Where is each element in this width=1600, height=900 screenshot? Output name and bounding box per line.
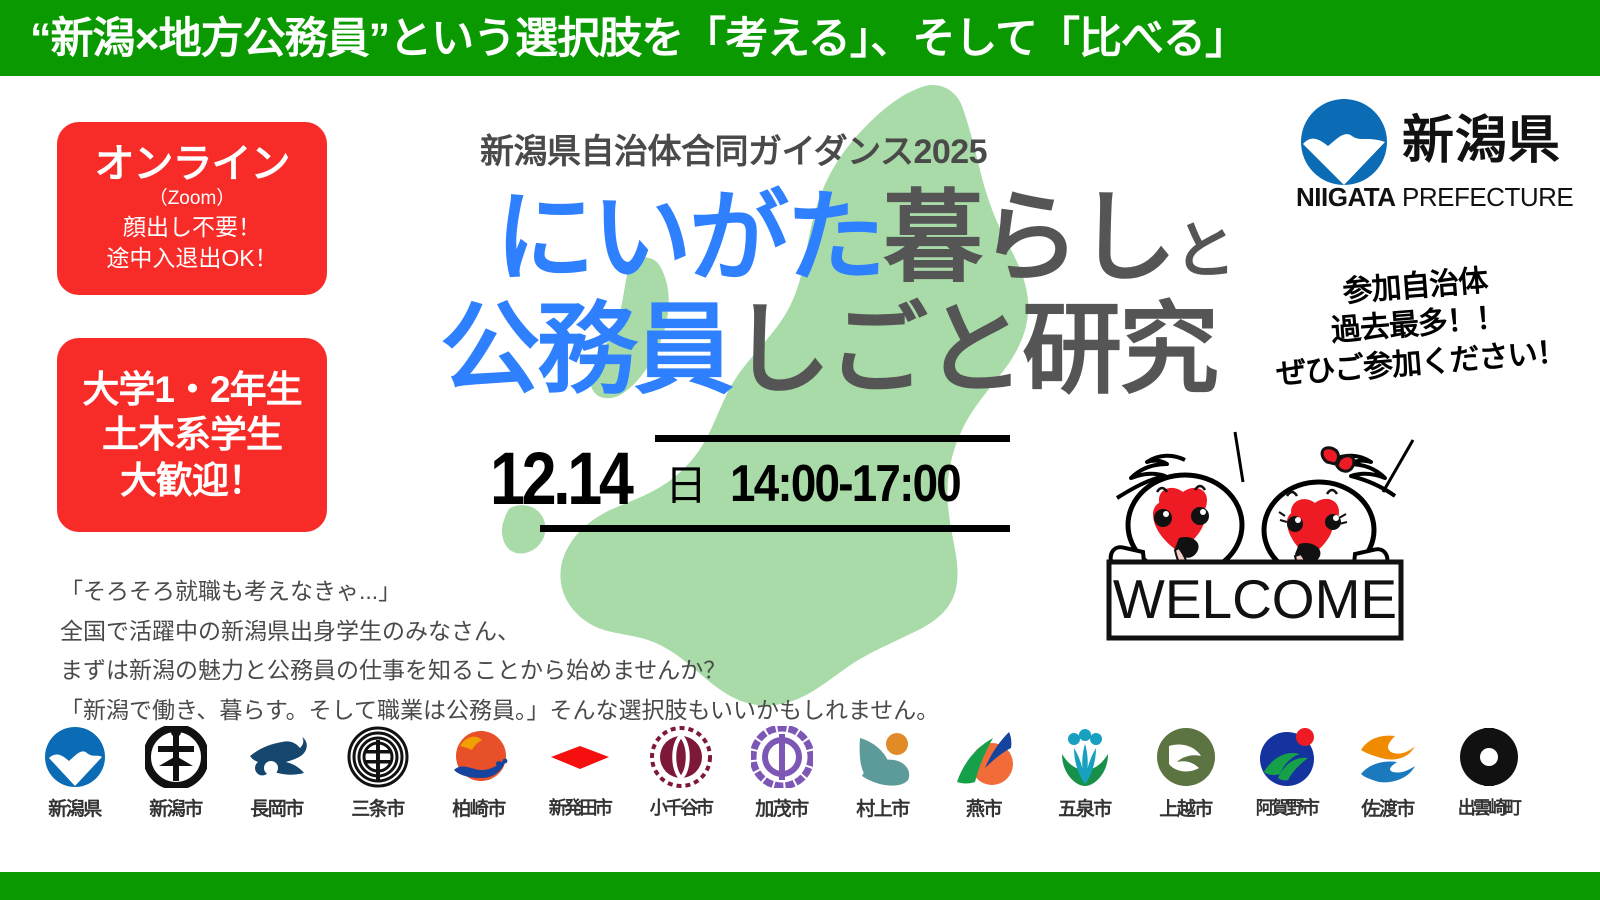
pointer-line-left xyxy=(1235,432,1243,482)
lead-line-3: まずは新潟の魅力と公務員の仕事を知ることから始めませんか？ xyxy=(60,651,939,691)
poster-canvas: “新潟×地方公務員”という選択肢を「考える」、そして「比べる」 オンライン （Z… xyxy=(0,0,1600,900)
tsubame-shi-emblem xyxy=(953,726,1015,788)
event-time: 14:00-17:00 xyxy=(730,458,960,510)
badge-online: オンライン （Zoom） 顔出し不要！ 途中入退出OK！ xyxy=(57,122,327,295)
municipality-label: 出雲崎町 xyxy=(1458,794,1520,820)
footer-bar xyxy=(0,872,1600,900)
event-weekday: 日 xyxy=(665,465,707,507)
mascot-welcome-group: WELCOME xyxy=(1095,430,1425,680)
event-date-block: 12.14 日 14:00-17:00 xyxy=(485,432,1015,532)
sado-shi-emblem xyxy=(1357,726,1419,788)
title-line1-gray: 暮らし xyxy=(883,182,1174,294)
title-line2-blue: 公務員 xyxy=(440,294,731,406)
badge-online-line1: 顔出し不要！ xyxy=(123,212,261,242)
welcome-sign-text: WELCOME xyxy=(1113,568,1397,630)
municipality-label: 小千谷市 xyxy=(650,794,712,820)
municipality-logo-item: 加茂市 xyxy=(731,726,832,821)
date-rule-bottom xyxy=(540,525,1010,532)
lead-paragraph: 「そろそろ就職も考えなきゃ...」 全国で活躍中の新潟県出身学生のみなさん、 ま… xyxy=(60,572,939,730)
svg-text:新潟県: 新潟県 xyxy=(1402,112,1561,170)
gosen-shi-emblem xyxy=(1054,726,1116,788)
municipality-logo-item: 三条市 xyxy=(327,726,428,821)
badge-student-line1: 大学1・2年生 xyxy=(82,367,301,412)
date-rule-top xyxy=(655,435,1010,442)
municipality-logo-item: 五泉市 xyxy=(1034,726,1135,821)
nagaoka-shi-emblem xyxy=(246,726,308,788)
agano-shi-emblem xyxy=(1256,726,1318,788)
header-headline: “新潟×地方公務員”という選択肢を「考える」、そして「比べる」 xyxy=(30,4,1247,66)
murakami-shi-emblem xyxy=(852,726,914,788)
lead-line-4: 「新潟で働き、暮らす。そして職業は公務員。」そんな選択肢もいいかもしれません。 xyxy=(60,691,939,731)
municipality-logo-item: 出雲崎町 xyxy=(1438,726,1539,820)
lead-line-2: 全国で活躍中の新潟県出身学生のみなさん、 xyxy=(60,612,939,652)
municipality-label: 燕市 xyxy=(966,794,1001,821)
municipality-label: 上越市 xyxy=(1159,794,1212,821)
niigata-shi-emblem xyxy=(145,726,207,788)
municipality-logo-item: 上越市 xyxy=(1135,726,1236,821)
joetsu-shi-emblem xyxy=(1155,726,1217,788)
municipality-label: 加茂市 xyxy=(755,794,808,821)
badge-online-sub: （Zoom） xyxy=(149,186,236,213)
header-banner: “新潟×地方公務員”という選択肢を「考える」、そして「比べる」 xyxy=(0,0,1600,76)
niigata-prefecture-logo: 新潟県 NIIGATA PREFECTURE xyxy=(1290,96,1586,218)
municipality-logo-item: 小千谷市 xyxy=(630,726,731,820)
municipality-logo-item: 新発田市 xyxy=(529,726,630,820)
niigata-ken-emblem xyxy=(44,726,106,788)
municipality-logo-item: 新潟県 xyxy=(24,726,125,821)
pointer-line-right xyxy=(1383,440,1413,492)
badge-online-title: オンライン xyxy=(95,144,290,184)
municipality-label: 柏崎市 xyxy=(452,794,505,821)
handwritten-note: 参加自治体 過去最多！！ ぜひご参加ください！ xyxy=(1264,256,1572,394)
municipality-label: 新潟市 xyxy=(149,794,202,821)
event-title-line1: にいがた暮らしと xyxy=(495,188,1233,288)
municipality-logo-item: 燕市 xyxy=(933,726,1034,821)
badge-student-line2: 土木系学生 xyxy=(102,412,282,457)
municipality-logo-item: 村上市 xyxy=(832,726,933,821)
municipality-logo-item: 佐渡市 xyxy=(1337,726,1438,821)
svg-text:PREFECTURE: PREFECTURE xyxy=(1402,182,1573,212)
municipality-logo-item: 阿賀野市 xyxy=(1236,726,1337,820)
title-line2-gray: しごと研究 xyxy=(731,294,1216,406)
shibata-shi-emblem xyxy=(549,726,611,788)
svg-text:NIIGATA: NIIGATA xyxy=(1296,182,1396,212)
municipality-label: 新潟県 xyxy=(48,794,101,821)
municipality-label: 五泉市 xyxy=(1058,794,1111,821)
municipality-label: 村上市 xyxy=(856,794,909,821)
izumozaki-machi-emblem xyxy=(1458,726,1520,788)
event-title-line2: 公務員しごと研究 xyxy=(440,300,1216,400)
sanjo-shi-emblem xyxy=(347,726,409,788)
badge-student-line3: 大歓迎！ xyxy=(120,458,264,503)
title-line1-particle: と xyxy=(1174,217,1233,286)
event-date: 12.14 xyxy=(490,442,630,516)
kashiwazaki-shi-emblem xyxy=(448,726,510,788)
event-subtitle: 新潟県自治体合同ガイダンス2025 xyxy=(480,124,987,173)
municipality-label: 阿賀野市 xyxy=(1256,794,1318,820)
mascot-bird-left xyxy=(1111,456,1242,576)
municipality-logo-strip: 新潟県 新潟市 長岡市 三条市 柏崎市新発田市 小千谷市 加茂市 村上市 燕市 xyxy=(0,726,1600,846)
lead-line-1: 「そろそろ就職も考えなきゃ...」 xyxy=(60,572,939,612)
ojiya-shi-emblem xyxy=(650,726,712,788)
municipality-label: 新発田市 xyxy=(549,794,611,820)
municipality-logo-item: 長岡市 xyxy=(226,726,327,821)
municipality-label: 佐渡市 xyxy=(1361,794,1414,821)
badge-student: 大学1・2年生 土木系学生 大歓迎！ xyxy=(57,338,327,532)
municipality-logo-item: 柏崎市 xyxy=(428,726,529,821)
badge-online-line2: 途中入退出OK！ xyxy=(106,243,277,273)
mascot-bird-right xyxy=(1264,448,1395,578)
kamo-shi-emblem xyxy=(751,726,813,788)
municipality-logo-item: 新潟市 xyxy=(125,726,226,821)
title-line1-blue: にいがた xyxy=(495,182,883,294)
municipality-label: 長岡市 xyxy=(250,794,303,821)
municipality-label: 三条市 xyxy=(351,794,404,821)
